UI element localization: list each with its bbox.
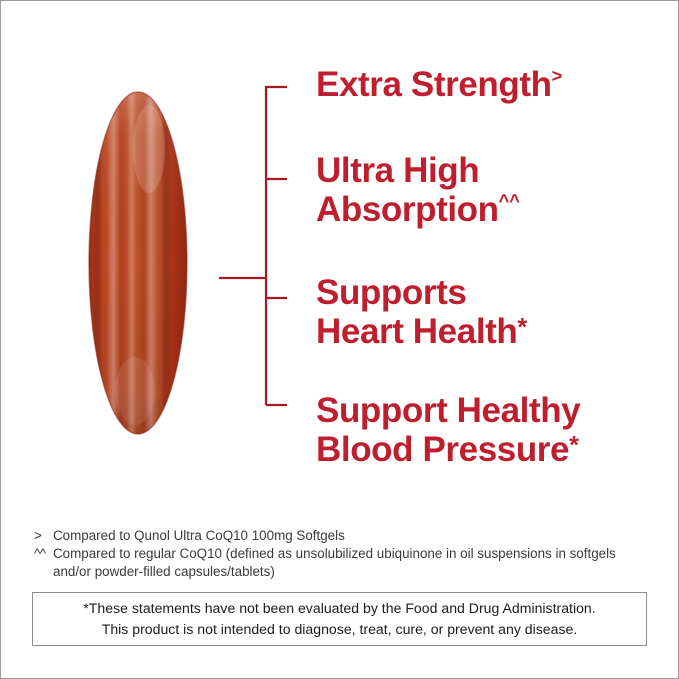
- claim-line-1: Supports: [316, 273, 466, 312]
- softgel-capsule-image: [87, 91, 189, 435]
- claim-ultra-high-absorption: Ultra HighAbsorption^^: [316, 151, 666, 229]
- fda-disclaimer-box: *These statements have not been evaluate…: [32, 592, 647, 646]
- claim-line-2: Absorption: [316, 190, 499, 229]
- bracket-connector: [211, 79, 331, 419]
- disclaimer-line-2: This product is not intended to diagnose…: [102, 619, 578, 640]
- footnotes: > Compared to Qunol Ultra CoQ10 100mg So…: [34, 527, 654, 582]
- footnote-marker: ^^: [34, 545, 53, 563]
- footnote-text: Compared to regular CoQ10 (defined as un…: [53, 545, 654, 581]
- footnote-item: > Compared to Qunol Ultra CoQ10 100mg So…: [34, 527, 654, 545]
- footnote-marker: >: [34, 527, 53, 545]
- claim-marker: *: [517, 313, 527, 341]
- claim-marker: >: [552, 66, 563, 86]
- claim-supports-heart-health: SupportsHeart Health*: [316, 273, 666, 351]
- claim-extra-strength: Extra Strength>: [316, 65, 666, 104]
- claim-line-1: Extra Strength: [316, 65, 552, 104]
- footnote-item: ^^ Compared to regular CoQ10 (defined as…: [34, 545, 654, 581]
- claim-line-2: Heart Health: [316, 312, 517, 351]
- product-infographic: Extra Strength> Ultra HighAbsorption^^ S…: [0, 0, 679, 679]
- disclaimer-line-1: *These statements have not been evaluate…: [83, 598, 595, 619]
- claim-line-1: Ultra High: [316, 151, 479, 190]
- claim-support-healthy-blood-pressure: Support HealthyBlood Pressure*: [316, 391, 666, 469]
- footnote-text: Compared to Qunol Ultra CoQ10 100mg Soft…: [53, 527, 654, 545]
- claim-line-2: Blood Pressure: [316, 430, 569, 469]
- claim-marker: *: [569, 432, 579, 460]
- claim-line-1: Support Healthy: [316, 391, 580, 430]
- claims-list: Extra Strength> Ultra HighAbsorption^^ S…: [316, 63, 666, 469]
- claim-marker: ^^: [499, 191, 520, 211]
